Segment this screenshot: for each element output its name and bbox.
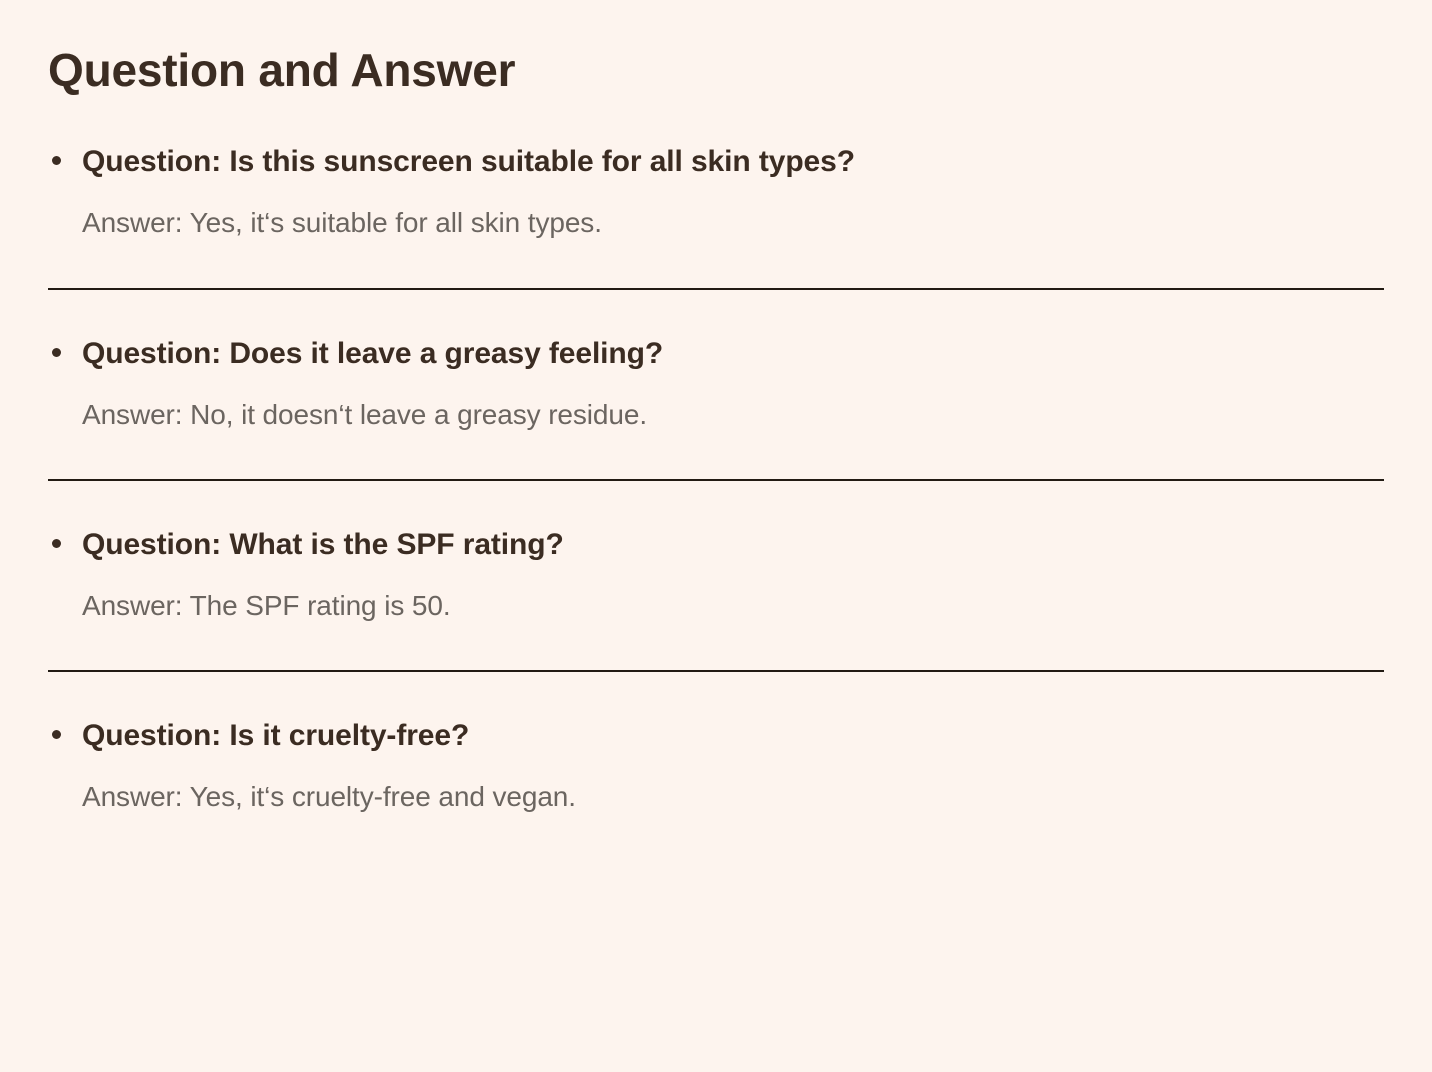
bullet-icon — [52, 156, 61, 165]
question-text: Question: Does it leave a greasy feeling… — [82, 334, 1384, 373]
answer-text: Answer: The SPF rating is 50. — [48, 588, 1384, 624]
bullet-icon — [52, 539, 61, 548]
question-text: Question: What is the SPF rating? — [82, 525, 1384, 564]
qa-page: Question and Answer Question: Is this su… — [0, 0, 1432, 1072]
bullet-icon — [52, 348, 61, 357]
answer-text: Answer: Yes, it‘s suitable for all skin … — [48, 205, 1384, 241]
bullet-icon — [52, 730, 61, 739]
qa-item: Question: Is it cruelty-free? Answer: Ye… — [48, 672, 1384, 815]
question-row: Question: What is the SPF rating? — [48, 525, 1384, 564]
qa-item: Question: Is this sunscreen suitable for… — [48, 98, 1384, 289]
question-text: Question: Is it cruelty-free? — [82, 716, 1384, 755]
question-row: Question: Is this sunscreen suitable for… — [48, 142, 1384, 181]
answer-text: Answer: Yes, it‘s cruelty-free and vegan… — [48, 779, 1384, 815]
question-row: Question: Does it leave a greasy feeling… — [48, 334, 1384, 373]
question-row: Question: Is it cruelty-free? — [48, 716, 1384, 755]
answer-text: Answer: No, it doesn‘t leave a greasy re… — [48, 397, 1384, 433]
page-title: Question and Answer — [48, 0, 1384, 98]
qa-item: Question: What is the SPF rating? Answer… — [48, 481, 1384, 672]
question-text: Question: Is this sunscreen suitable for… — [82, 142, 1384, 181]
qa-item: Question: Does it leave a greasy feeling… — [48, 290, 1384, 481]
qa-list: Question: Is this sunscreen suitable for… — [48, 98, 1384, 816]
